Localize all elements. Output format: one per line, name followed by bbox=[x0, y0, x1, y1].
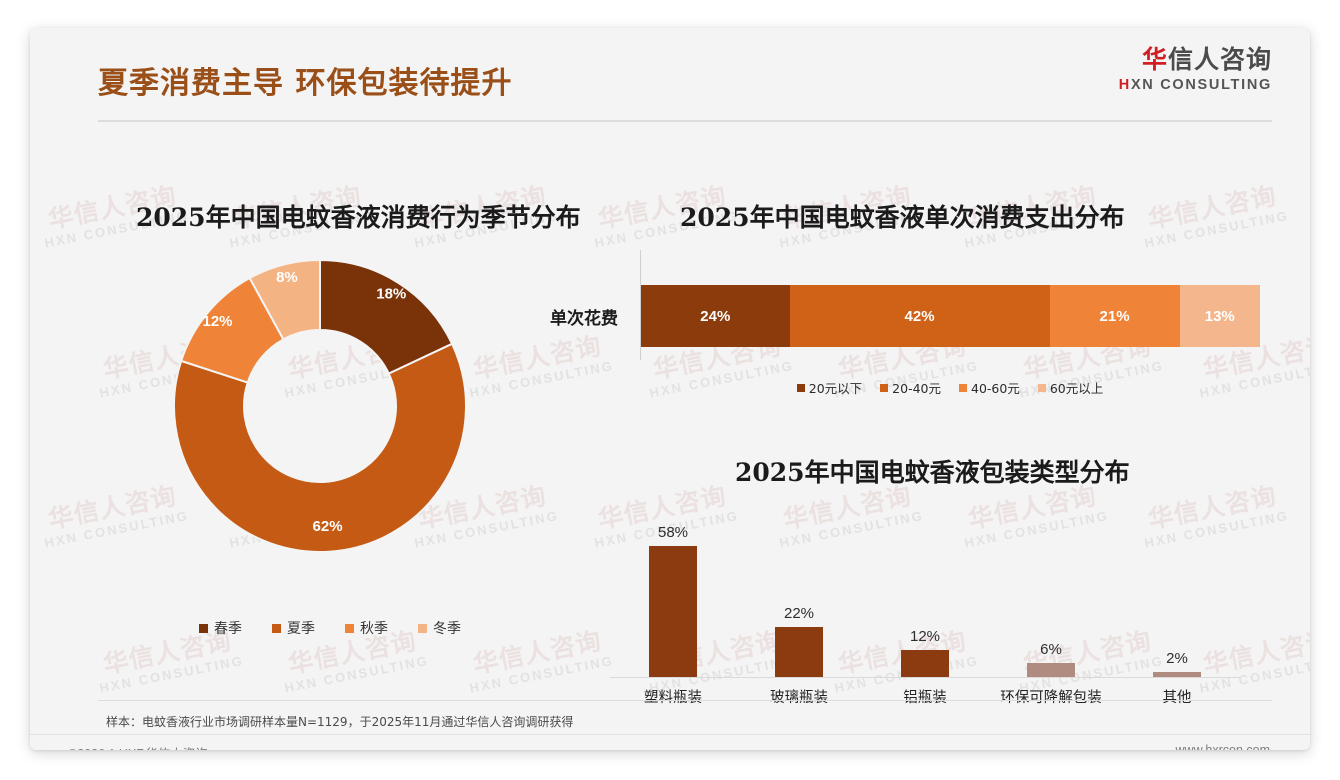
donut-segment-label: 18% bbox=[376, 286, 406, 303]
bar-rect[interactable] bbox=[775, 627, 823, 677]
stacked-bar-segment[interactable]: 13% bbox=[1180, 285, 1260, 347]
logo-en-red-char: H bbox=[1119, 77, 1131, 93]
legend-item[interactable]: 40-60元 bbox=[959, 378, 1020, 397]
legend-swatch-icon bbox=[959, 384, 967, 392]
stacked-bar-segment-label: 21% bbox=[1100, 308, 1130, 325]
footer-copyright: ©2026.1 HXR华信人咨询 bbox=[68, 743, 208, 750]
bar-value-label: 58% bbox=[658, 524, 688, 541]
bar-category-label: 其他 bbox=[1114, 686, 1240, 707]
company-logo: 华信人咨询 HXN CONSULTING bbox=[1119, 46, 1272, 93]
legend-swatch-icon bbox=[880, 384, 888, 392]
spend-stacked-bar-plot: 单次花费 24%42%21%13% bbox=[640, 250, 1260, 360]
spend-bar-legend: 20元以下20-40元40-60元60元以上 bbox=[640, 378, 1260, 397]
bar-value-label: 12% bbox=[910, 628, 940, 645]
legend-label: 秋季 bbox=[360, 618, 388, 638]
logo-en-rest: XN CONSULTING bbox=[1131, 77, 1272, 93]
bar-value-label: 2% bbox=[1166, 650, 1188, 667]
page-title: 夏季消费主导 环保包装待提升 bbox=[98, 58, 512, 102]
legend-item[interactable]: 20元以下 bbox=[797, 378, 862, 397]
legend-swatch-icon bbox=[272, 624, 281, 633]
legend-label: 冬季 bbox=[433, 618, 461, 638]
legend-label: 20元以下 bbox=[809, 378, 862, 397]
stacked-bar-segment-label: 42% bbox=[905, 308, 935, 325]
package-type-category-labels: 塑料瓶装玻璃瓶装铝瓶装环保可降解包装其他 bbox=[610, 686, 1240, 707]
stacked-bar-segment-label: 24% bbox=[700, 308, 730, 325]
stacked-bar-segment[interactable]: 42% bbox=[790, 285, 1050, 347]
bar-column[interactable]: 22% bbox=[736, 508, 862, 677]
sample-footnote: 样本：电蚊香液行业市场调研样本量N=1129，于2025年11月通过华信人咨询调… bbox=[106, 713, 573, 730]
legend-label: 40-60元 bbox=[971, 378, 1020, 397]
bar-category-label: 玻璃瓶装 bbox=[736, 686, 862, 707]
bar-category-label: 环保可降解包装 bbox=[988, 686, 1114, 707]
package-type-bar-title: 2025年中国电蚊香液包装类型分布 bbox=[735, 453, 1130, 489]
slide-header: 夏季消费主导 环保包装待提升 华信人咨询 HXN CONSULTING bbox=[30, 28, 1310, 124]
legend-label: 春季 bbox=[214, 618, 242, 638]
stacked-bar-segment[interactable]: 24% bbox=[641, 285, 790, 347]
season-donut-chart: 2025年中国电蚊香液消费行为季节分布 18%62%12%8% 春季夏季秋季冬季 bbox=[90, 178, 630, 678]
stacked-bar-segment-label: 13% bbox=[1205, 308, 1235, 325]
legend-swatch-icon bbox=[1038, 384, 1046, 392]
bar-column[interactable]: 2% bbox=[1114, 508, 1240, 677]
bar-rect[interactable] bbox=[1027, 663, 1075, 677]
logo-cn-red-char: 华 bbox=[1142, 45, 1168, 74]
legend-swatch-icon bbox=[345, 624, 354, 633]
donut-segment-label: 8% bbox=[276, 269, 298, 286]
slide-card: 华信人咨询HXN CONSULTING华信人咨询HXN CONSULTING华信… bbox=[30, 28, 1310, 750]
stacked-bar-segment[interactable]: 21% bbox=[1050, 285, 1180, 347]
legend-label: 夏季 bbox=[287, 618, 315, 638]
logo-english-text: HXN CONSULTING bbox=[1119, 77, 1272, 93]
package-type-bar-columns: 58%22%12%6%2% bbox=[610, 508, 1240, 677]
season-donut-graphic: 18%62%12%8% bbox=[170, 256, 470, 556]
legend-item[interactable]: 春季 bbox=[199, 618, 242, 638]
footnote-divider bbox=[98, 700, 1272, 701]
footer-website[interactable]: www.hxrcon.com bbox=[1176, 743, 1270, 750]
bar-column[interactable]: 58% bbox=[610, 508, 736, 677]
legend-item[interactable]: 夏季 bbox=[272, 618, 315, 638]
legend-swatch-icon bbox=[199, 624, 208, 633]
season-donut-legend: 春季夏季秋季冬季 bbox=[130, 618, 530, 638]
bar-category-label: 塑料瓶装 bbox=[610, 686, 736, 707]
spend-stacked-bar-chart: 2025年中国电蚊香液单次消费支出分布 单次花费 24%42%21%13% 20… bbox=[640, 178, 1280, 428]
spend-bar-row: 单次花费 24%42%21%13% bbox=[640, 285, 1260, 347]
legend-item[interactable]: 秋季 bbox=[345, 618, 388, 638]
spend-bar-category-label: 单次花费 bbox=[540, 304, 636, 329]
donut-segment-label: 12% bbox=[203, 313, 233, 330]
legend-item[interactable]: 60元以上 bbox=[1038, 378, 1103, 397]
bar-rect[interactable] bbox=[649, 546, 697, 677]
legend-item[interactable]: 20-40元 bbox=[880, 378, 941, 397]
bar-rect[interactable] bbox=[901, 650, 949, 677]
header-divider bbox=[98, 120, 1272, 122]
bar-category-label: 铝瓶装 bbox=[862, 686, 988, 707]
legend-label: 60元以上 bbox=[1050, 378, 1103, 397]
spend-bar-segments: 24%42%21%13% bbox=[641, 285, 1260, 347]
season-donut-title: 2025年中国电蚊香液消费行为季节分布 bbox=[136, 198, 581, 234]
legend-swatch-icon bbox=[418, 624, 427, 633]
legend-label: 20-40元 bbox=[892, 378, 941, 397]
footer-divider bbox=[30, 734, 1310, 735]
logo-chinese-text: 华信人咨询 bbox=[1119, 46, 1272, 74]
logo-cn-rest: 信人咨询 bbox=[1168, 45, 1272, 74]
bar-column[interactable]: 12% bbox=[862, 508, 988, 677]
legend-swatch-icon bbox=[797, 384, 805, 392]
bar-value-label: 22% bbox=[784, 605, 814, 622]
spend-stacked-bar-title: 2025年中国电蚊香液单次消费支出分布 bbox=[680, 198, 1125, 234]
donut-segment-label: 62% bbox=[313, 518, 343, 535]
donut-svg: 18%62%12%8% bbox=[170, 256, 470, 556]
legend-item[interactable]: 冬季 bbox=[418, 618, 461, 638]
bar-value-label: 6% bbox=[1040, 641, 1062, 658]
package-type-bar-chart: 2025年中国电蚊香液包装类型分布 58%22%12%6%2% 塑料瓶装玻璃瓶装… bbox=[590, 438, 1290, 728]
bar-column[interactable]: 6% bbox=[988, 508, 1114, 677]
package-type-baseline bbox=[610, 677, 1240, 678]
package-type-bar-plot: 58%22%12%6%2% bbox=[610, 508, 1240, 678]
